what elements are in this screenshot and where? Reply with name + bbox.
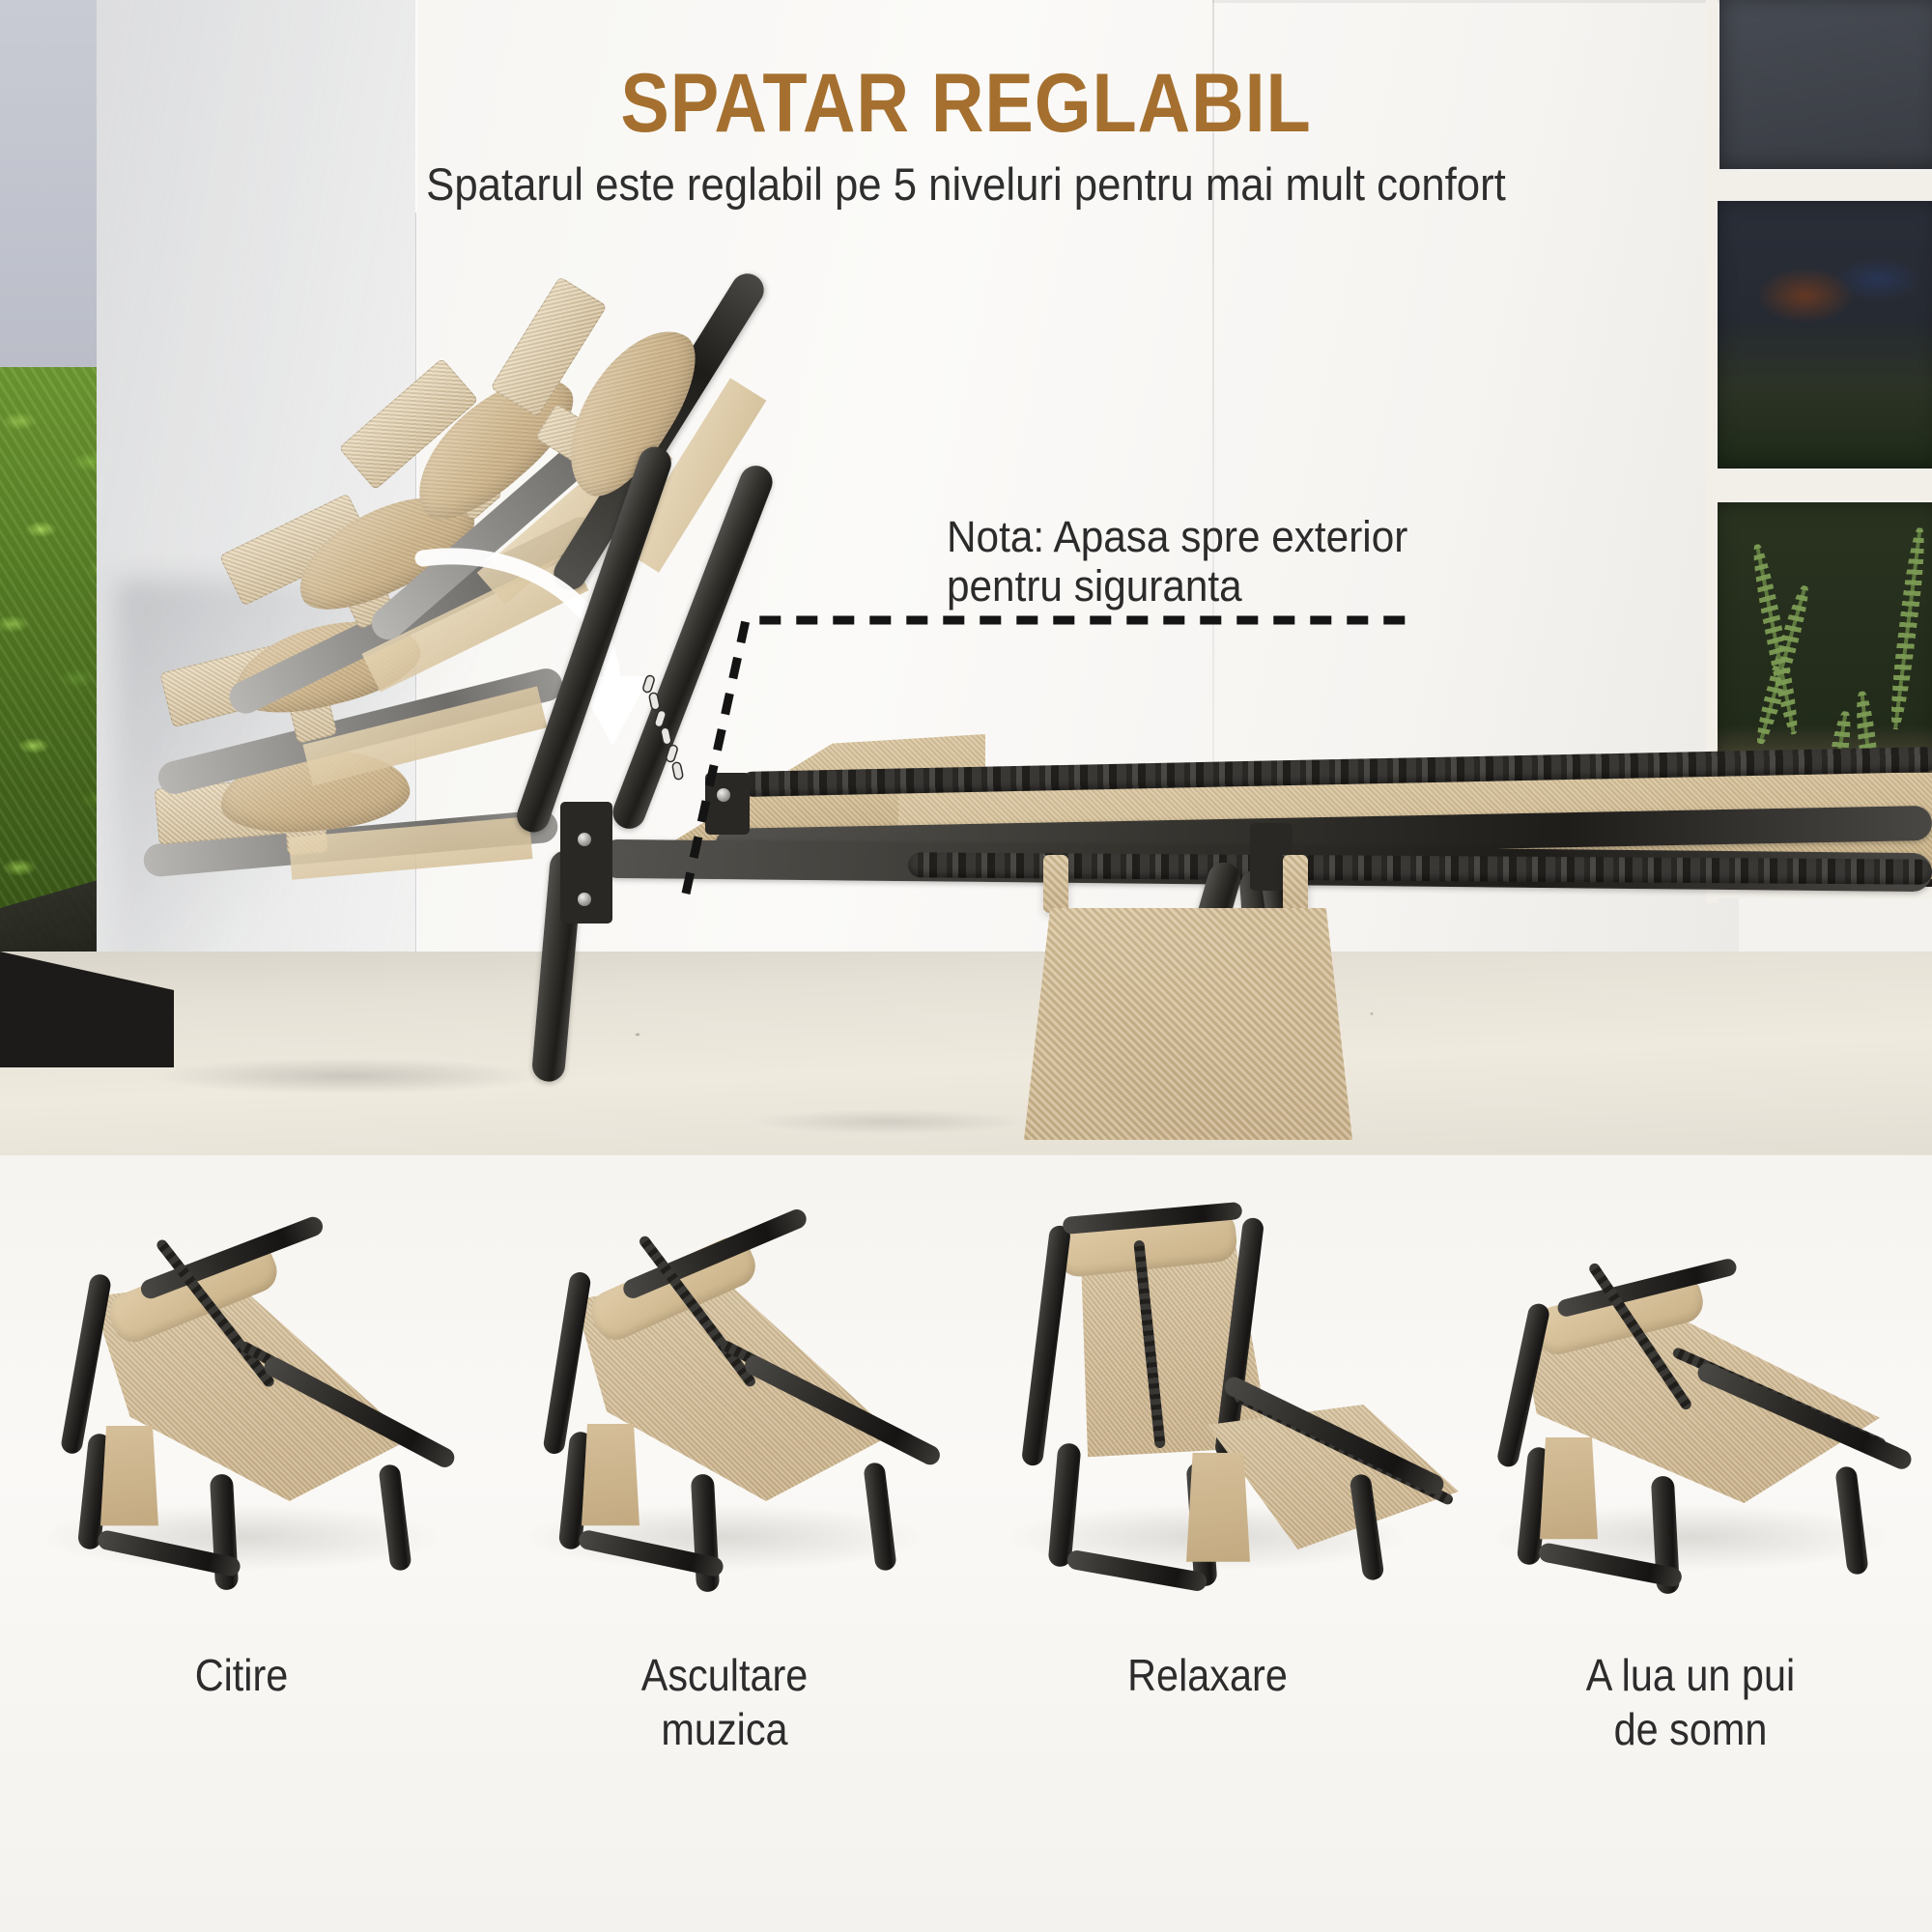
rivet bbox=[717, 788, 730, 802]
window-mullion bbox=[1712, 470, 1932, 501]
gallery-item-relaxare[interactable]: Relaxare bbox=[966, 1155, 1449, 1932]
caption-line: Ascultare bbox=[507, 1648, 942, 1702]
gallery-caption-a-lua-un-pui-de-somn: A lua un pui de somn bbox=[1473, 1648, 1908, 1756]
gallery-caption-ascultare-muzica: Ascultare muzica bbox=[507, 1648, 942, 1756]
gallery-item-ascultare-muzica[interactable]: Ascultare muzica bbox=[483, 1155, 966, 1932]
pocket-strap-right bbox=[1283, 855, 1308, 913]
thumbnail-citire bbox=[0, 1184, 483, 1638]
safety-note-line-1: Nota: Apasa spre exterior bbox=[947, 512, 1510, 561]
thumbnail-a-lua-un-pui-de-somn bbox=[1449, 1184, 1932, 1638]
gallery-caption-relaxare: Relaxare bbox=[990, 1648, 1425, 1702]
safety-note-line-2: pentru siguranta bbox=[947, 561, 1510, 611]
caption-line: de somn bbox=[1473, 1702, 1908, 1756]
wall-panel-edge bbox=[1212, 0, 1719, 3]
caption-line: muzica bbox=[507, 1702, 942, 1756]
notch-bracket bbox=[705, 773, 750, 835]
use-case-gallery: Citire Ascultare muzica bbox=[0, 1154, 1932, 1932]
patio-floor bbox=[0, 952, 1932, 1154]
page-subtitle: Spatarul este reglabil pe 5 niveluri pen… bbox=[68, 157, 1864, 211]
caption-line: A lua un pui bbox=[1473, 1648, 1908, 1702]
thumbnail-relaxare bbox=[966, 1184, 1449, 1638]
safety-note: Nota: Apasa spre exterior pentru siguran… bbox=[947, 512, 1510, 611]
rivet bbox=[578, 893, 591, 906]
gallery-caption-citire: Citire bbox=[24, 1648, 459, 1702]
side-pocket bbox=[1024, 908, 1352, 1150]
pocket-strap-left bbox=[1043, 855, 1068, 913]
caption-line: Relaxare bbox=[990, 1648, 1425, 1702]
window-middle bbox=[1715, 198, 1932, 469]
product-feature-image: Nota: Apasa spre exterior pentru siguran… bbox=[0, 0, 1932, 1932]
caption-line: Citire bbox=[24, 1648, 459, 1702]
page-title: SPATAR REGLABIL bbox=[116, 56, 1816, 152]
thumbnail-ascultare-muzica bbox=[483, 1184, 966, 1638]
gallery-item-a-lua-un-pui-de-somn[interactable]: A lua un pui de somn bbox=[1449, 1155, 1932, 1932]
hero-scene: Nota: Apasa spre exterior pentru siguran… bbox=[0, 0, 1932, 1154]
gallery-item-citire[interactable]: Citire bbox=[0, 1155, 483, 1932]
rivet bbox=[578, 833, 591, 846]
